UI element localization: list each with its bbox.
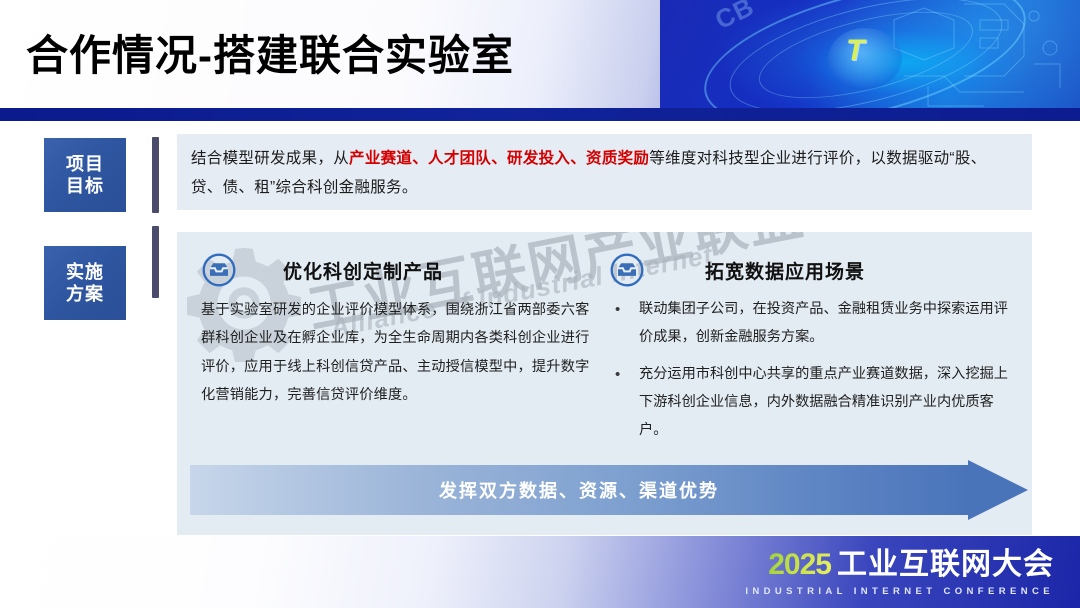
slide-root: T CB 合作情况-搭建联合实验室 项目 目标 实施 方案 结合模型研发成果，从… [0, 0, 1080, 608]
arrow-banner-label: 发挥双方数据、资源、渠道优势 [190, 465, 968, 515]
objective-text-part1: 结合模型研发成果，从 [191, 150, 349, 167]
objective-paragraph: 结合模型研发成果，从产业赛道、人才团队、研发投入、资质奖励等维度对科技型企业进行… [191, 145, 1016, 202]
objective-panel: 结合模型研发成果，从产业赛道、人才团队、研发投入、资质奖励等维度对科技型企业进行… [177, 134, 1032, 210]
synergy-arrow-banner: 发挥双方数据、资源、渠道优势 [190, 465, 1028, 515]
header-cb-watermark: CB [710, 0, 759, 36]
plan-column-left-title: 优化科创定制产品 [283, 257, 443, 284]
conference-logo-row: 2025 工业互联网大会 [745, 550, 1054, 580]
section-tag-objective: 项目 目标 [44, 138, 126, 212]
plan-column-right: 拓宽数据应用场景 联动集团子公司，在投资产品、金融租赁业务中探索运用评价成果，创… [609, 248, 1019, 454]
plan-column-left-header: 优化科创定制产品 [201, 248, 601, 292]
slide-header: T CB 合作情况-搭建联合实验室 [0, 0, 1080, 108]
inbox-circle-icon [609, 252, 645, 288]
section-tag-plan-line2: 方案 [66, 283, 104, 306]
section-tag-plan-line1: 实施 [66, 261, 104, 284]
arrow-head-icon [968, 460, 1028, 520]
divider-bar-plan [152, 226, 159, 298]
section-tag-objective-line1: 项目 [66, 153, 104, 176]
plan-column-right-bullets: 联动集团子公司，在投资产品、金融租赁业务中探索运用评价成果，创新金融服务方案。 … [609, 296, 1019, 444]
list-item: 联动集团子公司，在投资产品、金融租赁业务中探索运用评价成果，创新金融服务方案。 [609, 296, 1019, 351]
slide-footer: 2025 工业互联网大会 INDUSTRIAL INTERNET CONFERE… [0, 536, 1080, 608]
title-underline-bar [0, 108, 1080, 121]
circuit-pattern-icon [884, 0, 1074, 108]
divider-bar-objective [152, 137, 159, 213]
header-brand-mark: T [846, 36, 858, 66]
list-item: 充分运用市科创中心共享的重点产业赛道数据，深入挖掘上下游科创企业信息，内外数据融… [609, 361, 1019, 444]
conference-logo: 2025 工业互联网大会 INDUSTRIAL INTERNET CONFERE… [745, 550, 1054, 597]
objective-highlight: 产业赛道、人才团队、研发投入、资质奖励 [349, 150, 649, 167]
plan-column-left-body: 基于实验室研发的企业评价模型体系，围绕浙江省两部委六客群科创企业及在孵企业库，为… [201, 296, 601, 410]
header-tech-graphic: T CB [660, 0, 1080, 108]
section-tag-objective-line2: 目标 [66, 175, 104, 198]
plan-column-right-header: 拓宽数据应用场景 [609, 248, 1019, 292]
conference-logo-cn: 工业互联网大会 [837, 550, 1054, 580]
conference-logo-year: 2025 [768, 550, 831, 580]
core-glow [828, 28, 902, 90]
plan-column-left: 优化科创定制产品 基于实验室研发的企业评价模型体系，围绕浙江省两部委六客群科创企… [201, 248, 601, 410]
conference-logo-en: INDUSTRIAL INTERNET CONFERENCE [745, 587, 1054, 597]
plan-column-right-title: 拓宽数据应用场景 [705, 257, 865, 284]
page-title: 合作情况-搭建联合实验室 [26, 22, 514, 83]
inbox-circle-icon [201, 252, 237, 288]
section-tag-plan: 实施 方案 [44, 246, 126, 320]
